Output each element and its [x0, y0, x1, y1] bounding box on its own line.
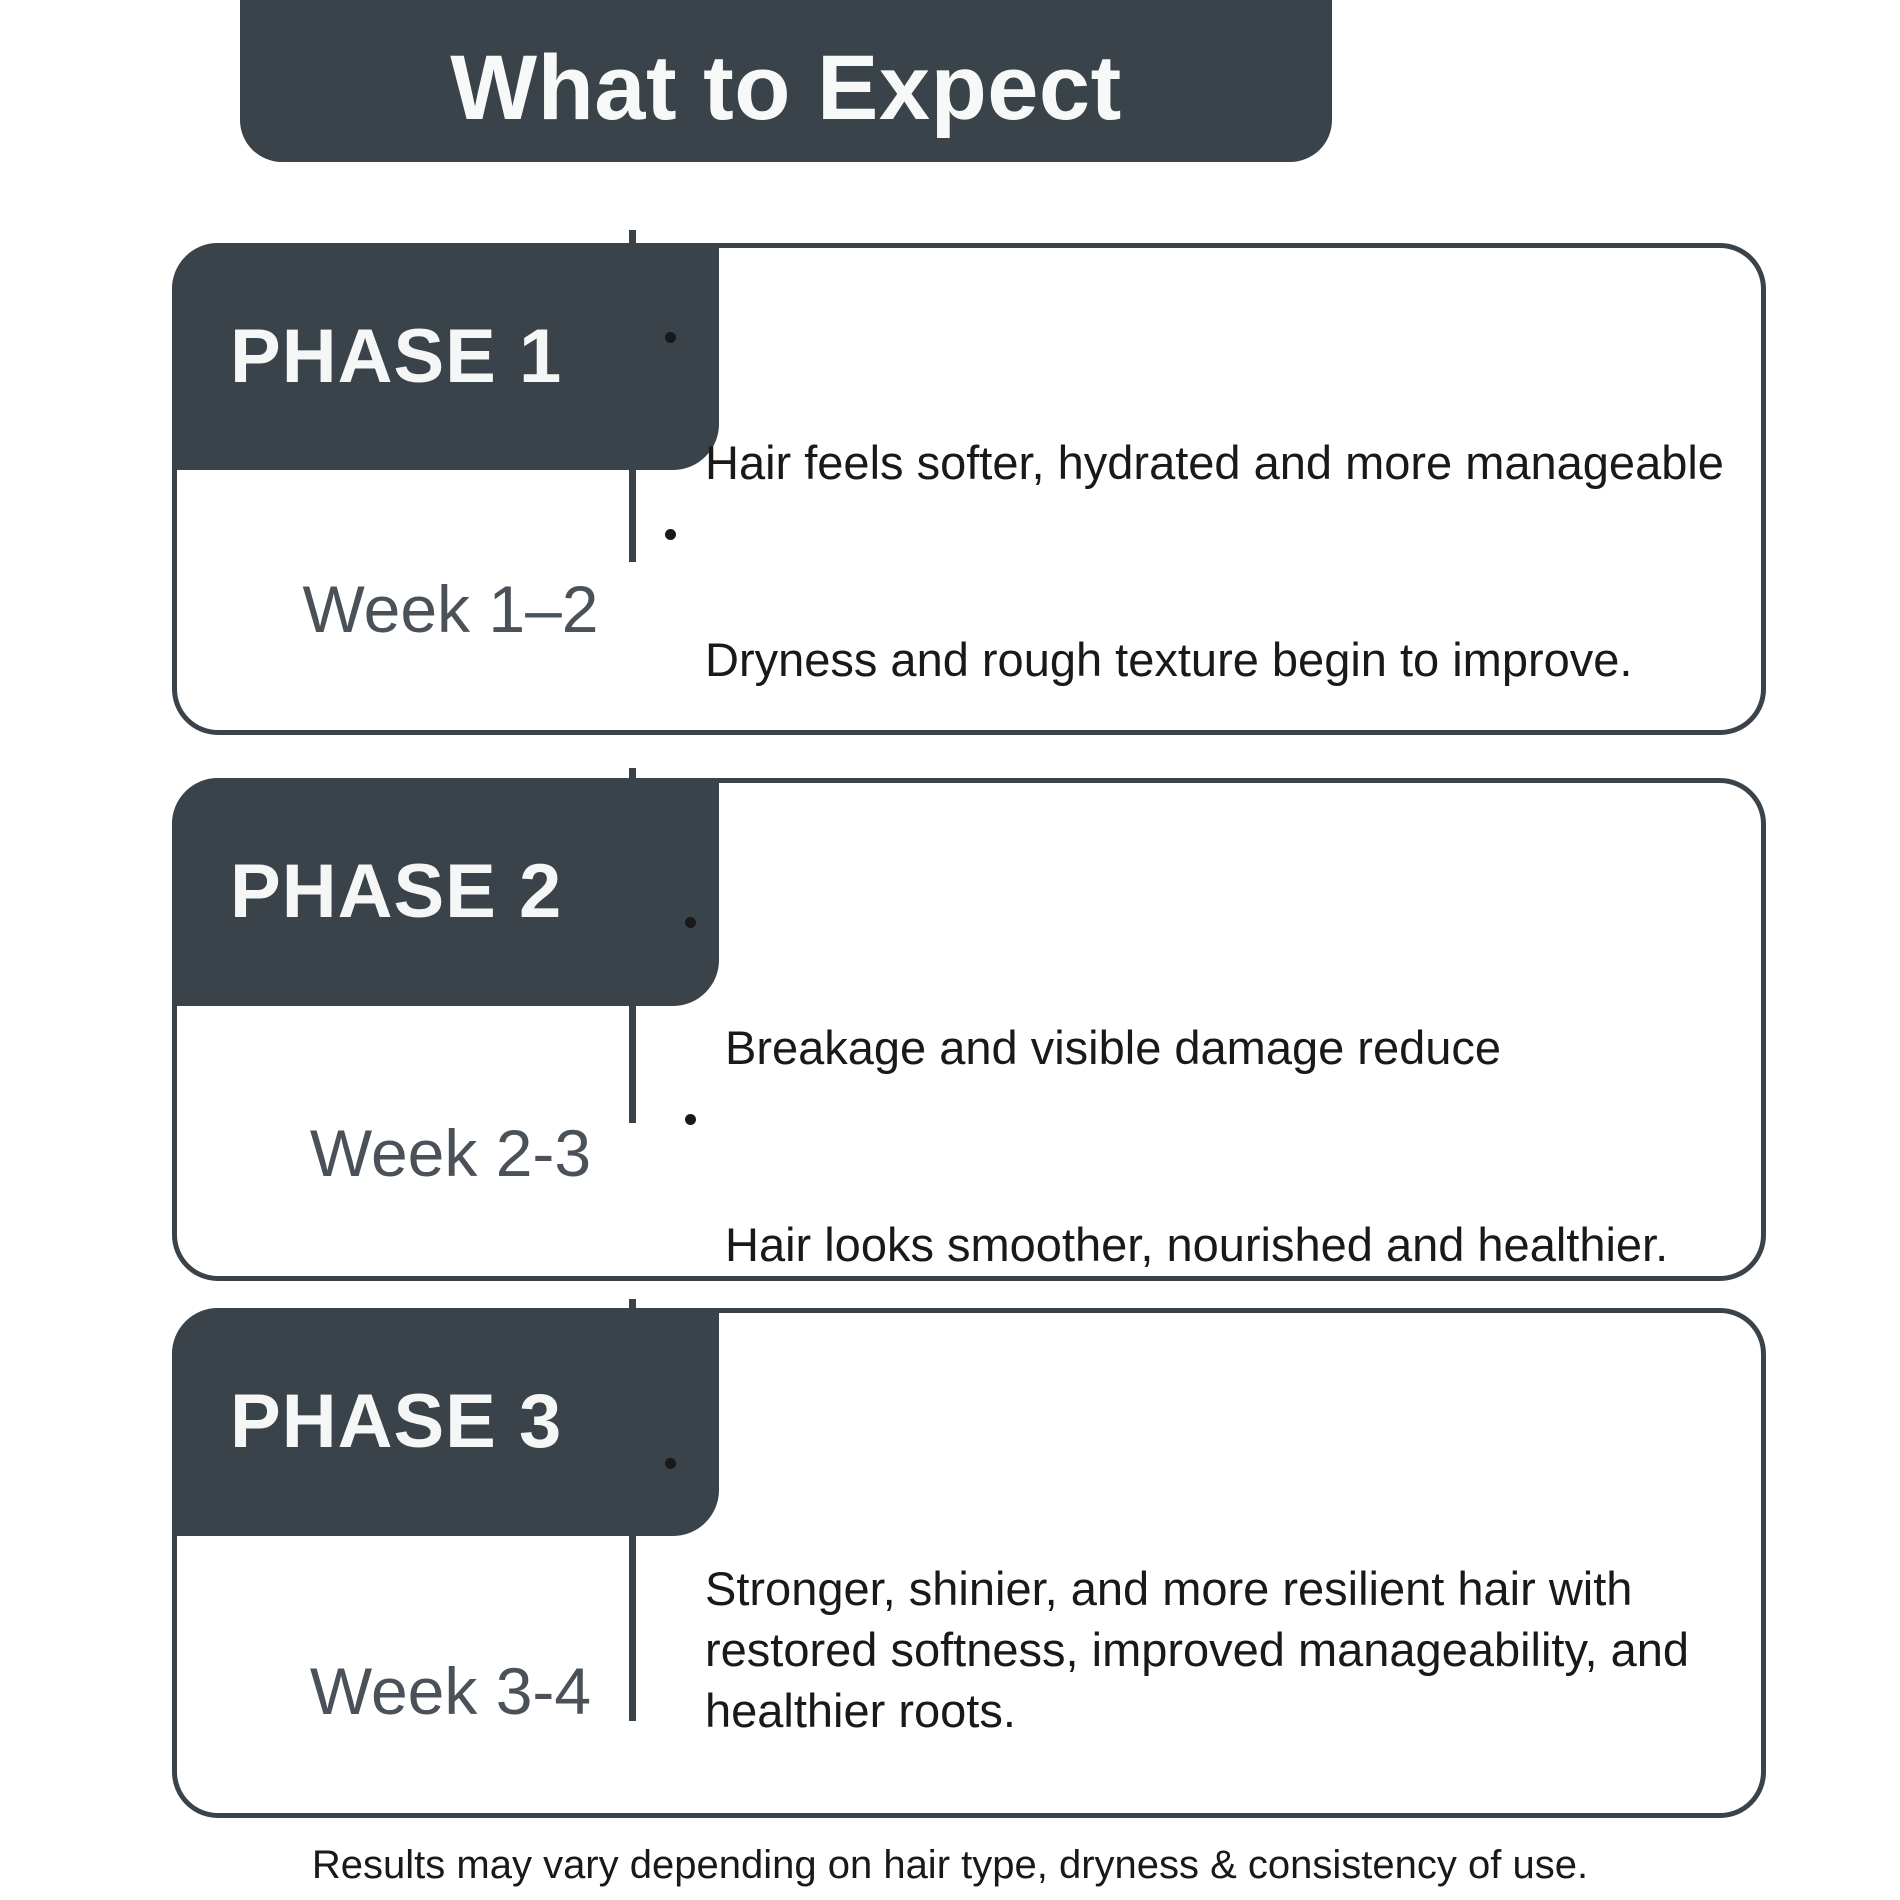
- phase-card: PHASE 3 Week 3-4 Stronger, shinier, and …: [172, 1308, 1766, 1818]
- phase-week-label: Week 2-3: [177, 1120, 724, 1186]
- bullet-dot-icon: [665, 1458, 676, 1469]
- header-banner-area: What to Expect: [0, 0, 1900, 165]
- list-item-text: Stronger, shinier, and more resilient ha…: [705, 1562, 1689, 1737]
- phase-tab: PHASE 2: [172, 778, 719, 1006]
- list-item: Hair looks smoother, nourished and healt…: [675, 1092, 1765, 1275]
- list-item-text: Dryness and rough texture begin to impro…: [705, 633, 1632, 686]
- card-divider: [629, 230, 636, 562]
- card-divider: [629, 768, 636, 1123]
- list-item-text: Hair looks smoother, nourished and healt…: [725, 1218, 1668, 1271]
- list-item: Breakage and visible damage reduce: [675, 895, 1765, 1078]
- phase-label: PHASE 1: [230, 319, 562, 395]
- bullet-dot-icon: [665, 332, 676, 343]
- phase-card: PHASE 2 Week 2-3 Breakage and visible da…: [172, 778, 1766, 1281]
- list-item: Dryness and rough texture begin to impro…: [655, 507, 1730, 690]
- list-item-text: Hair feels softer, hydrated and more man…: [705, 436, 1724, 489]
- phase-bullet-list: Hair feels softer, hydrated and more man…: [655, 310, 1730, 705]
- bullet-dot-icon: [685, 1114, 696, 1125]
- phase-week-label: Week 1–2: [177, 576, 724, 642]
- phase-week-label: Week 3-4: [177, 1658, 724, 1724]
- phase-label: PHASE 2: [230, 854, 562, 930]
- phase-tab: PHASE 3: [172, 1308, 719, 1536]
- phase-bullet-list: Breakage and visible damage reduce Hair …: [675, 895, 1765, 1290]
- bullet-dot-icon: [665, 529, 676, 540]
- phase-tab: PHASE 1: [172, 243, 719, 470]
- bullet-dot-icon: [685, 917, 696, 928]
- list-item: Hair feels softer, hydrated and more man…: [655, 310, 1730, 493]
- header-banner: What to Expect: [240, 0, 1332, 162]
- list-item-text: Breakage and visible damage reduce: [725, 1021, 1501, 1074]
- card-divider: [629, 1299, 636, 1721]
- phase-label: PHASE 3: [230, 1384, 562, 1460]
- list-item: Stronger, shinier, and more resilient ha…: [655, 1436, 1740, 1741]
- disclaimer-text: Results may vary depending on hair type,…: [0, 1845, 1900, 1885]
- phase-card: PHASE 1 Week 1–2 Hair feels softer, hydr…: [172, 243, 1766, 735]
- page-title: What to Expect: [450, 42, 1121, 134]
- phase-bullet-list: Stronger, shinier, and more resilient ha…: [655, 1436, 1740, 1755]
